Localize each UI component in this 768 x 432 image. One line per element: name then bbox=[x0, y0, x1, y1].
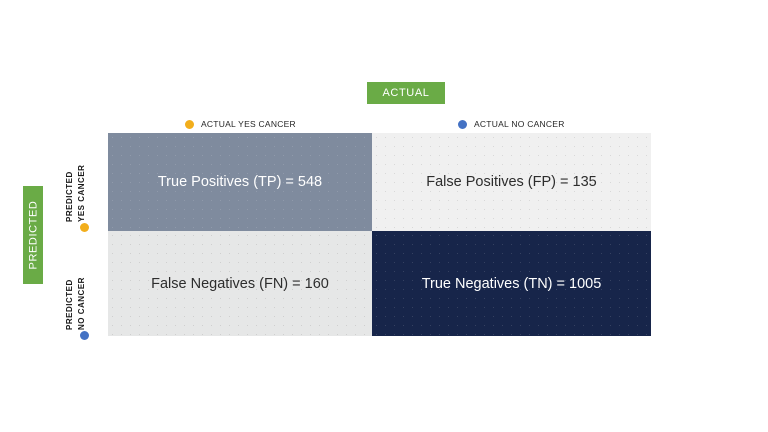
predicted-axis-banner: PREDICTED bbox=[23, 186, 43, 284]
matrix-cell-true-positives-label: True Positives (TP) = 548 bbox=[158, 174, 322, 190]
column-legend-actual-yes: ACTUAL YES CANCER bbox=[185, 117, 296, 131]
row-legend-predicted-yes: PREDICTED YES CANCER bbox=[62, 140, 102, 222]
matrix-cell-false-negatives-label: False Negatives (FN) = 160 bbox=[151, 276, 329, 292]
predicted-axis-banner-label: PREDICTED bbox=[27, 201, 39, 270]
column-legend-actual-yes-label: ACTUAL YES CANCER bbox=[201, 119, 296, 129]
matrix-cell-true-negatives-label: True Negatives (TN) = 1005 bbox=[422, 276, 602, 292]
matrix-cell-true-positives: True Positives (TP) = 548 bbox=[108, 133, 372, 231]
confusion-matrix-figure: ACTUAL PREDICTED ACTUAL YES CANCER ACTUA… bbox=[0, 0, 768, 432]
column-legend-actual-no-label: ACTUAL NO CANCER bbox=[474, 119, 565, 129]
confusion-matrix-grid: True Positives (TP) = 548 False Positive… bbox=[108, 133, 651, 336]
matrix-cell-false-negatives: False Negatives (FN) = 160 bbox=[108, 231, 372, 336]
row-legend-dot-yes-icon bbox=[80, 223, 89, 232]
matrix-cell-false-positives: False Positives (FP) = 135 bbox=[372, 133, 651, 231]
row-legend-predicted-no: PREDICTED NO CANCER bbox=[62, 248, 102, 330]
row-legend-predicted-yes-line2: YES CANCER bbox=[77, 165, 86, 222]
row-legend-predicted-no-line2: NO CANCER bbox=[77, 277, 86, 330]
column-legend-actual-no: ACTUAL NO CANCER bbox=[458, 117, 565, 131]
actual-axis-banner: ACTUAL bbox=[367, 82, 445, 104]
row-legend-predicted-yes-line1: PREDICTED bbox=[65, 171, 74, 222]
row-legend-predicted-no-line1: PREDICTED bbox=[65, 279, 74, 330]
legend-dot-yes-icon bbox=[185, 120, 194, 129]
matrix-cell-true-negatives: True Negatives (TN) = 1005 bbox=[372, 231, 651, 336]
row-legend-dot-no-icon bbox=[80, 331, 89, 340]
legend-dot-no-icon bbox=[458, 120, 467, 129]
actual-axis-banner-label: ACTUAL bbox=[383, 87, 430, 99]
matrix-cell-false-positives-label: False Positives (FP) = 135 bbox=[426, 174, 596, 190]
